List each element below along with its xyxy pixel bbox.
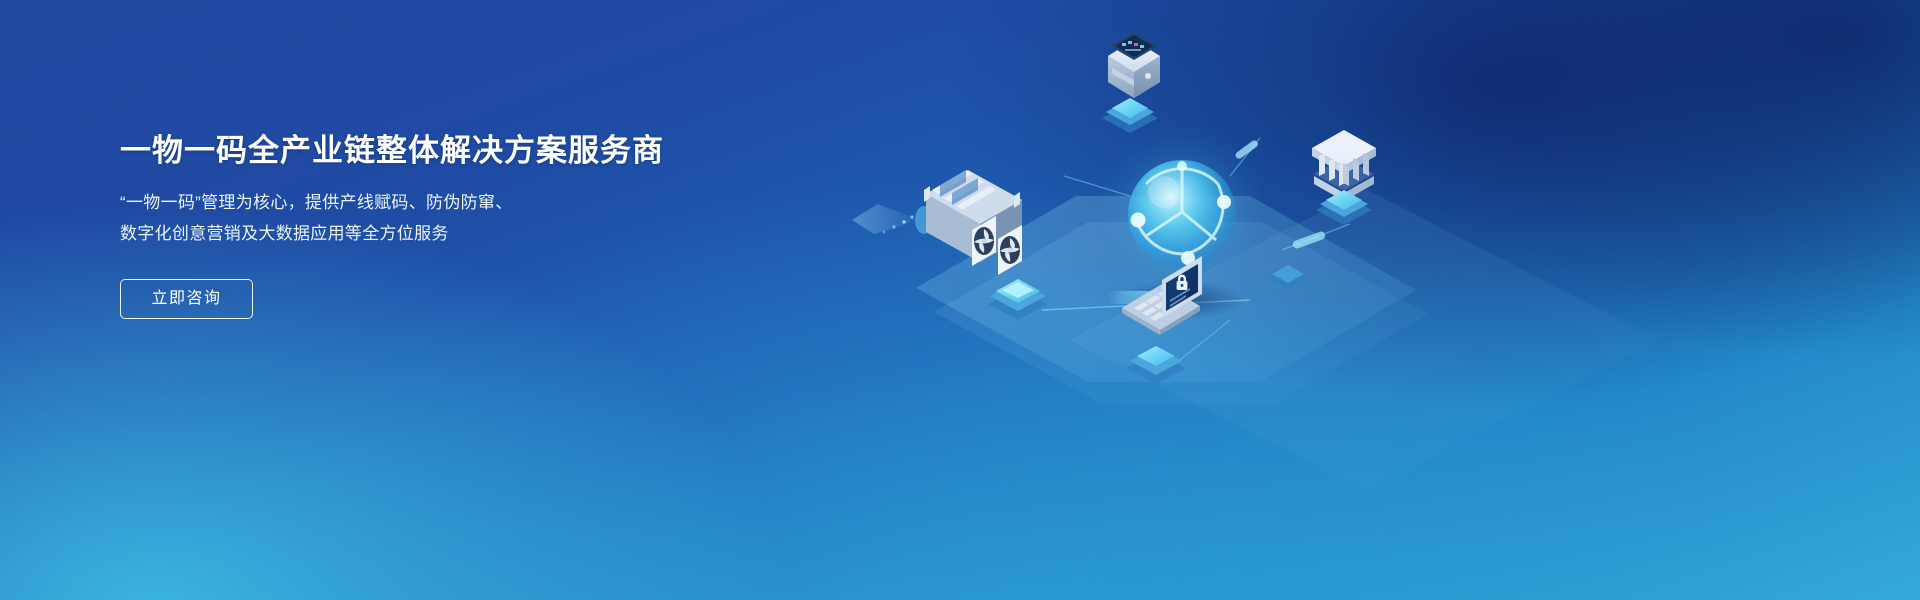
- hero-subtitle-line-1: “一物一码”管理为核心，提供产线赋码、防伪防窜、: [120, 187, 740, 218]
- hero-copy-block: 一物一码全产业链整体解决方案服务商 “一物一码”管理为核心，提供产线赋码、防伪防…: [120, 128, 740, 319]
- hero-illustration: [830, 0, 1530, 600]
- hero-subtitle-line-2: 数字化创意营销及大数据应用等全方位服务: [120, 218, 740, 249]
- page-title: 一物一码全产业链整体解决方案服务商: [120, 128, 740, 174]
- pos-indicator: [1145, 73, 1151, 79]
- hero-banner: 一物一码全产业链整体解决方案服务商 “一物一码”管理为核心，提供产线赋码、防伪防…: [0, 0, 1920, 600]
- pedestal-cube: [1102, 98, 1158, 133]
- consult-now-button[interactable]: 立即咨询: [120, 279, 253, 319]
- fan-airflow-beam: [852, 204, 920, 234]
- isometric-platform: [916, 189, 1660, 490]
- sphere-highlight: [1148, 176, 1180, 208]
- pos-terminal-icon: [1108, 32, 1160, 98]
- hero-subtitle: “一物一码”管理为核心，提供产线赋码、防伪防窜、 数字化创意营销及大数据应用等全…: [120, 187, 740, 249]
